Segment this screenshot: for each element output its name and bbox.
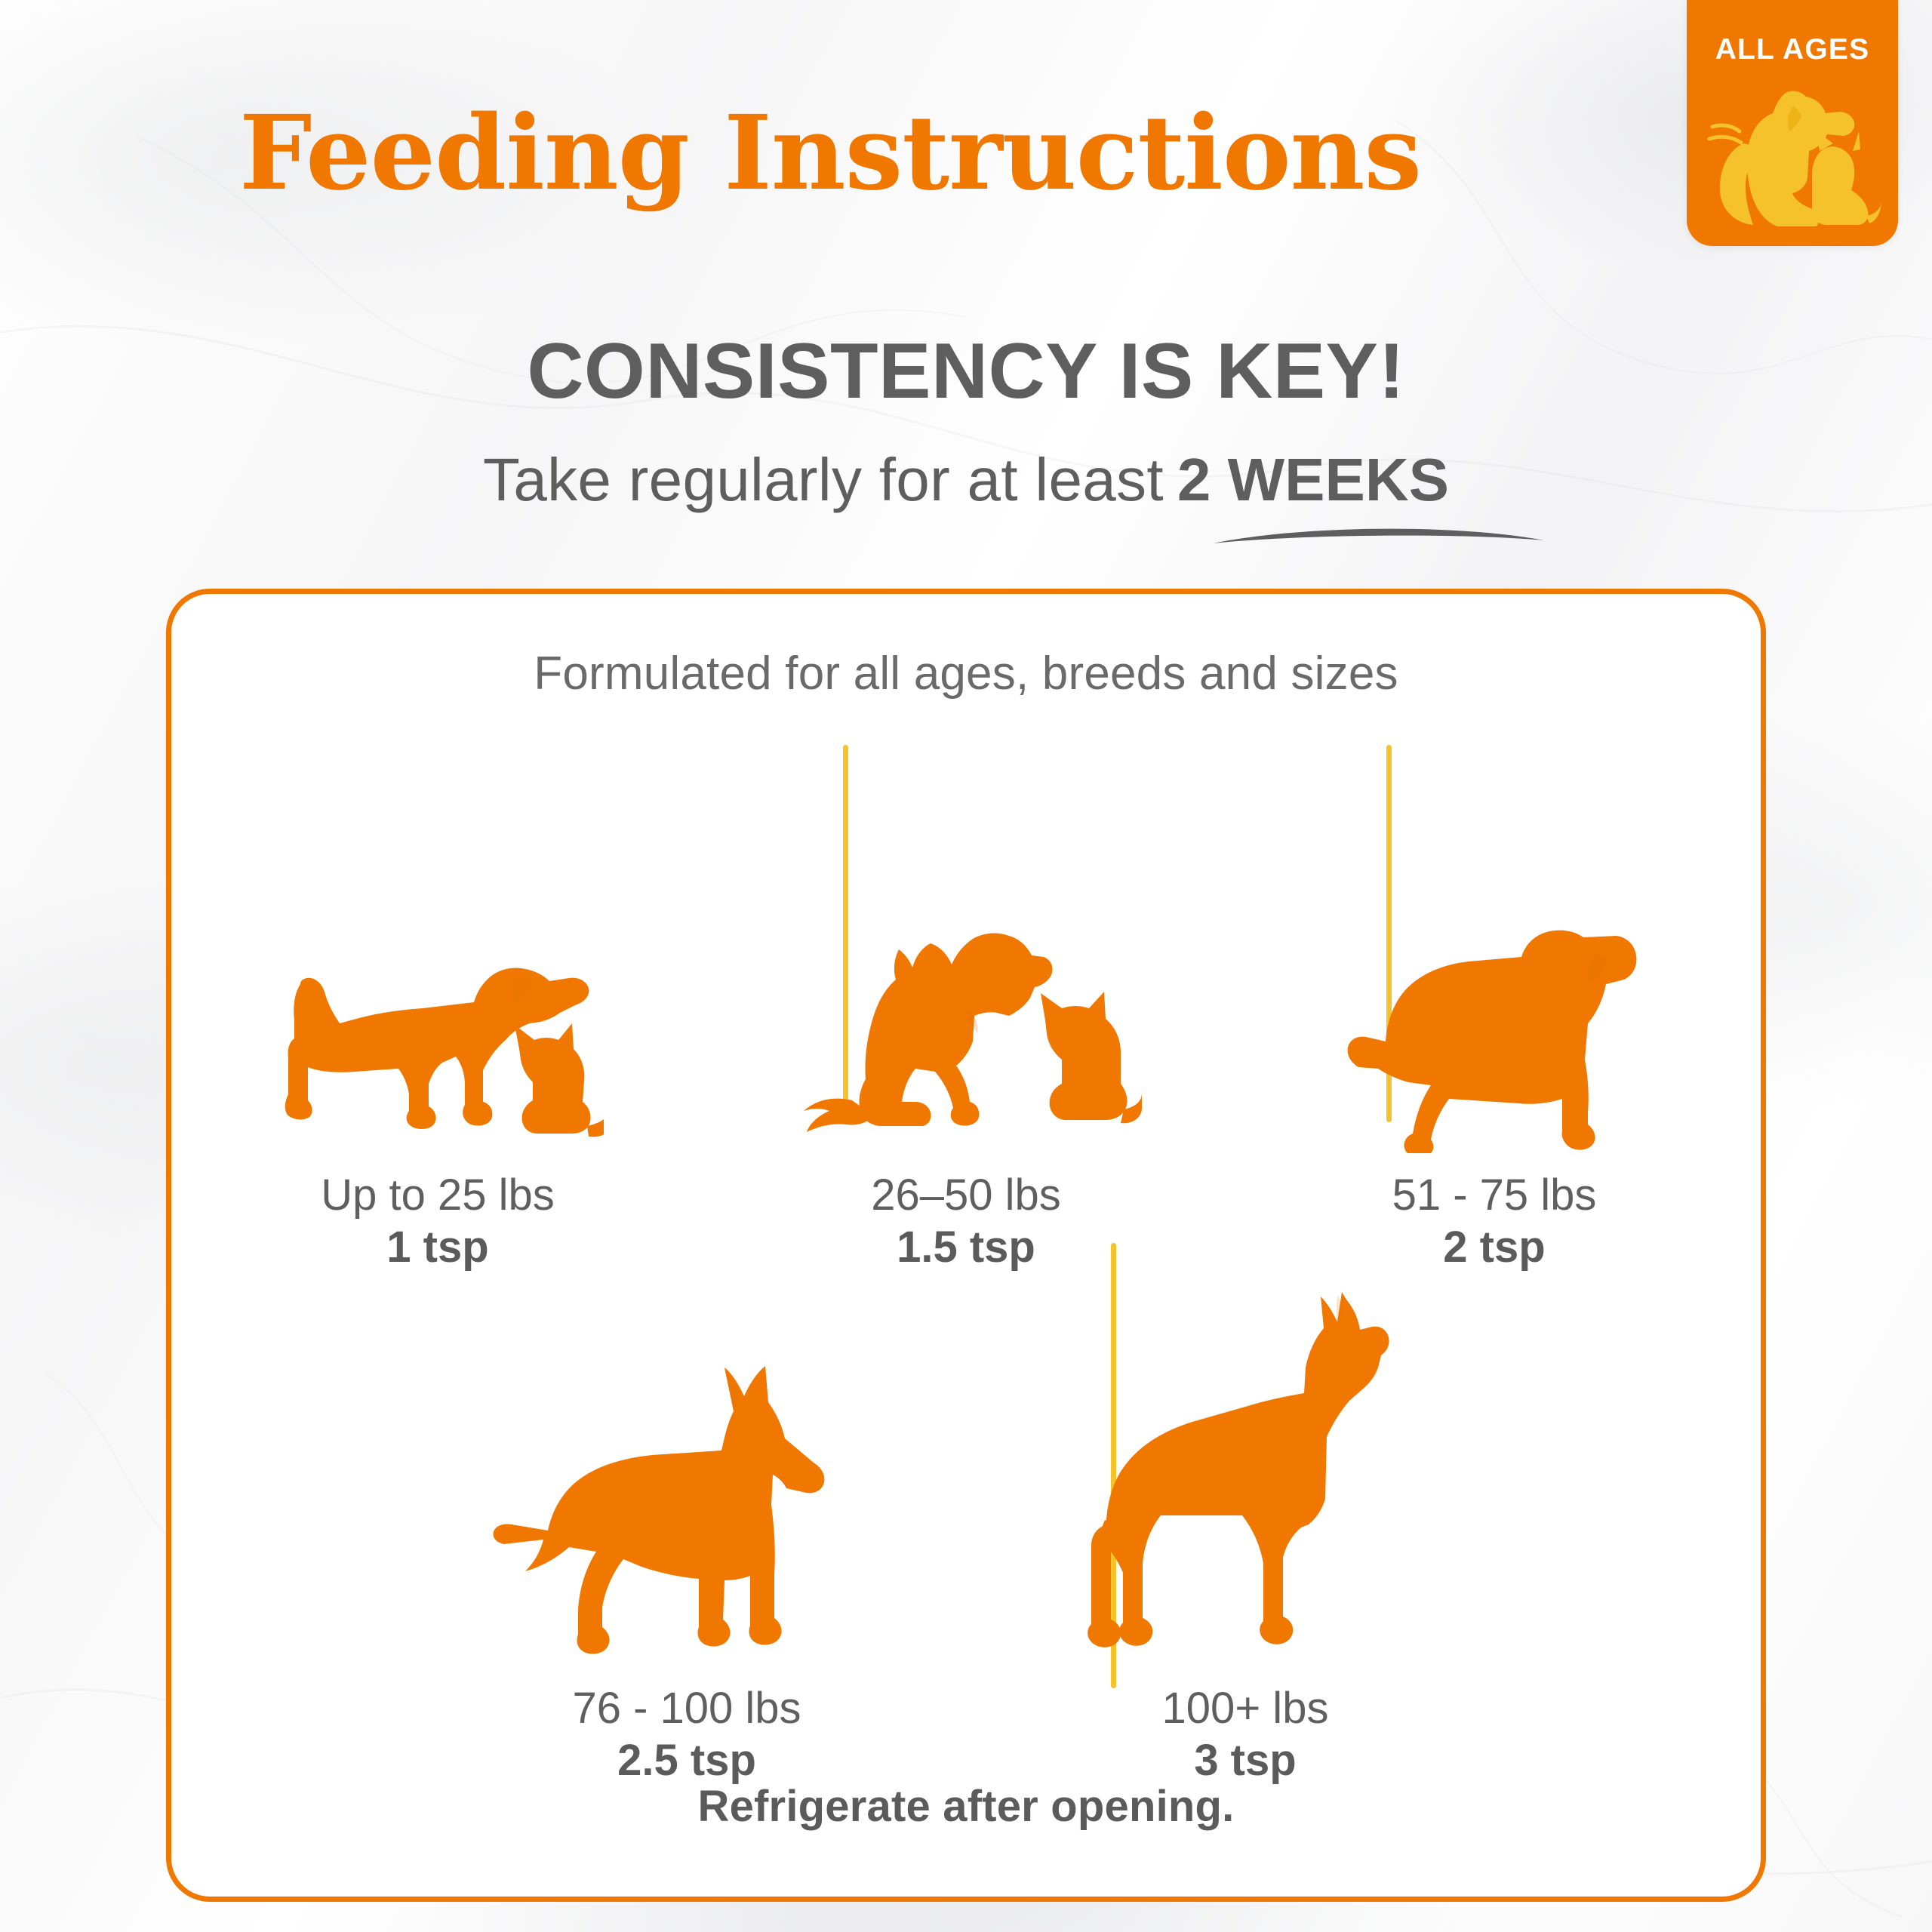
feeding-chart-card: Formulated for all ages, breeds and size… (166, 589, 1766, 1902)
feeding-item-labels: 76 - 100 lbs 2.5 tsp (572, 1683, 801, 1786)
card-intro-text: Formulated for all ages, breeds and size… (171, 647, 1761, 700)
great-dane-dog-icon (1072, 1289, 1419, 1666)
underline-swoosh-icon (1209, 515, 1549, 549)
small-dog-and-cat-icon (272, 957, 604, 1153)
feeding-item-100-plus: 100+ lbs 3 tsp (966, 1289, 1524, 1786)
infographic-page: ALL AGES (0, 0, 1932, 1932)
tagline-emphasis: 2 WEEKS (1177, 446, 1449, 513)
weight-range: 100+ lbs (1162, 1683, 1329, 1734)
shepherd-dog-icon (491, 1349, 883, 1666)
weight-range: 76 - 100 lbs (572, 1683, 801, 1734)
sitting-dog-and-cat-icon (789, 927, 1143, 1153)
dose-amount: 3 tsp (1162, 1735, 1329, 1786)
feeding-item-76-100: 76 - 100 lbs 2.5 tsp (408, 1349, 966, 1786)
tagline: Take regularly for at least2 WEEKS (0, 445, 1932, 515)
labrador-dog-icon (1336, 927, 1653, 1153)
tagline-prefix: Take regularly for at least (483, 446, 1164, 513)
card-footer-note: Refrigerate after opening. (171, 1781, 1761, 1832)
feeding-item-up-to-25: Up to 25 lbs 1 tsp (174, 957, 702, 1273)
dog-and-cat-icon (1703, 78, 1884, 237)
all-ages-badge-label: ALL AGES (1687, 33, 1898, 66)
subheading: CONSISTENCY IS KEY! (0, 332, 1932, 411)
feeding-item-51-75: 51 - 75 lbs 2 tsp (1230, 927, 1758, 1273)
dose-amount: 2.5 tsp (572, 1735, 801, 1786)
feeding-item-labels: 100+ lbs 3 tsp (1162, 1683, 1329, 1786)
all-ages-badge: ALL AGES (1687, 0, 1898, 246)
page-title: Feeding Instructions (0, 102, 1660, 205)
feeding-item-26-50: 26–50 lbs 1.5 tsp (702, 927, 1230, 1273)
weight-range: 26–50 lbs (871, 1170, 1061, 1221)
feeding-row-2: 76 - 100 lbs 2.5 tsp (171, 1228, 1761, 1786)
feeding-row-1: Up to 25 lbs 1 tsp (171, 730, 1761, 1273)
weight-range: 51 - 75 lbs (1392, 1170, 1597, 1221)
weight-range: Up to 25 lbs (321, 1170, 555, 1221)
